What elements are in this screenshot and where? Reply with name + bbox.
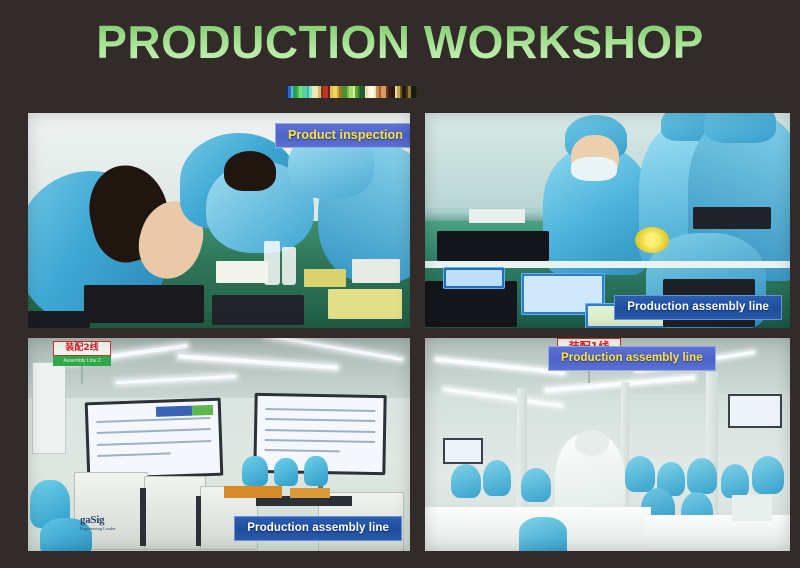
line-sign-en: Assembly Line 2 [53, 356, 111, 366]
photo-assembly-hall[interactable]: 装配1线 Assembly Line 1 Production assembly… [425, 338, 790, 551]
page-title: PRODUCTION WORKSHOP [0, 14, 800, 70]
divider-bar [416, 86, 418, 98]
color-bar-divider [286, 86, 514, 98]
photo-workshop-monitors[interactable]: gaSigEngineering Leader 装配2线 Assembly Li… [28, 338, 410, 551]
badge-product-inspection[interactable]: Product inspection [275, 123, 410, 148]
line-sign-assembly-2: 装配2线 Assembly Line 2 [53, 341, 111, 384]
badge-production-assembly-line[interactable]: Production assembly line [234, 516, 402, 541]
line-sign-cn: 装配2线 [53, 341, 111, 356]
machine-brand-label: gaSigEngineering Leader [80, 514, 116, 531]
divider-wrapper [0, 86, 800, 98]
badge-production-assembly-line[interactable]: Production assembly line [614, 295, 782, 320]
photo-assembly-soldering[interactable]: Production assembly line [425, 113, 790, 328]
badge-production-assembly-line[interactable]: Production assembly line [548, 346, 716, 371]
photo-product-inspection[interactable]: Product inspection [28, 113, 410, 328]
photo-grid: Product inspection Production a [28, 113, 790, 556]
page-header: PRODUCTION WORKSHOP [0, 0, 800, 100]
